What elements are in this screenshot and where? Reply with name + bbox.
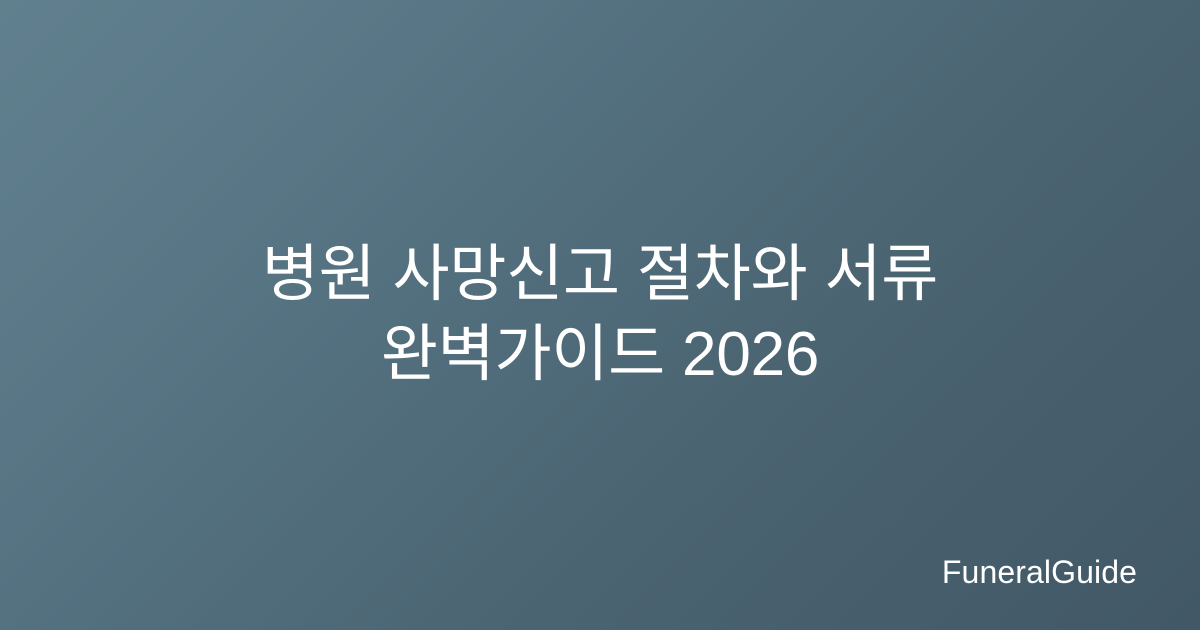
og-share-card: 병원 사망신고 절차와 서류 완벽가이드 2026 FuneralGuide [0, 0, 1200, 630]
title-container: 병원 사망신고 절차와 서류 완벽가이드 2026 [0, 0, 1200, 630]
brand-wordmark: FuneralGuide [942, 556, 1137, 588]
page-title: 병원 사망신고 절차와 서류 완벽가이드 2026 [120, 235, 1080, 395]
